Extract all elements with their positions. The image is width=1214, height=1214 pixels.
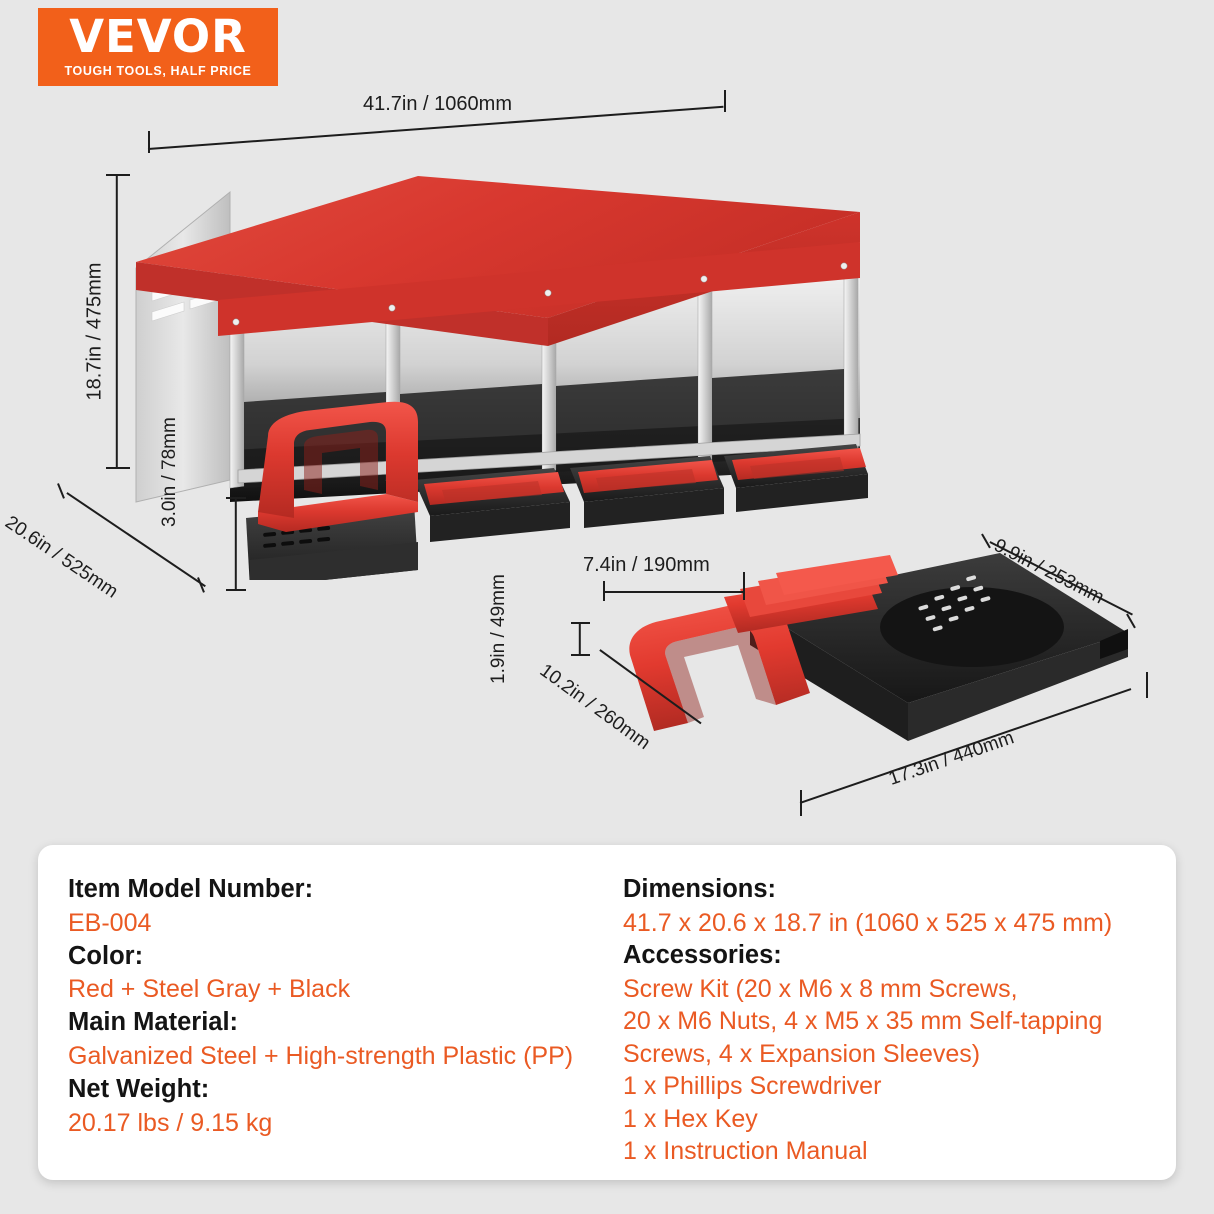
spec-key: Net Weight:: [68, 1073, 613, 1107]
spec-value: 1 x Hex Key: [623, 1103, 1173, 1136]
spec-key: Main Material:: [68, 1006, 613, 1040]
spec-value: Galvanized Steel + High-strength Plastic…: [68, 1040, 613, 1073]
brand-name: VEVOR: [69, 16, 247, 59]
spec-value: Screw Kit (20 x M6 x 8 mm Screws,: [623, 973, 1173, 1006]
tray-seated: [414, 468, 570, 542]
spec-value: 41.7 x 20.6 x 18.7 in (1060 x 525 x 475 …: [623, 907, 1173, 940]
vevor-logo: VEVOR TOUGH TOOLS, HALF PRICE: [38, 8, 278, 86]
brand-tagline: TOUGH TOOLS, HALF PRICE: [65, 64, 252, 78]
tray-seated: [570, 456, 724, 528]
spec-value: 1 x Instruction Manual: [623, 1135, 1173, 1168]
product-spec-sheet: VEVOR TOUGH TOOLS, HALF PRICE: [0, 0, 1214, 1214]
spec-value: 20 x M6 Nuts, 4 x M5 x 35 mm Self-tappin…: [623, 1005, 1173, 1038]
specification-card: Item Model Number: EB-004 Color: Red + S…: [38, 845, 1176, 1180]
spec-right-column: Dimensions: 41.7 x 20.6 x 18.7 in (1060 …: [613, 873, 1173, 1180]
spec-value: 20.17 lbs / 9.15 kg: [68, 1107, 613, 1140]
spec-value: Red + Steel Gray + Black: [68, 973, 613, 1006]
spec-value: Screws, 4 x Expansion Sleeves): [623, 1038, 1173, 1071]
spec-value: EB-004: [68, 907, 613, 940]
spec-key: Accessories:: [623, 939, 1173, 973]
main-product-illustration: [118, 150, 878, 580]
spec-left-column: Item Model Number: EB-004 Color: Red + S…: [38, 873, 613, 1180]
tray-seated: [724, 444, 868, 512]
spec-value: 1 x Phillips Screwdriver: [623, 1070, 1173, 1103]
spec-key: Item Model Number:: [68, 873, 613, 907]
spec-key: Dimensions:: [623, 873, 1173, 907]
spec-key: Color:: [68, 940, 613, 974]
